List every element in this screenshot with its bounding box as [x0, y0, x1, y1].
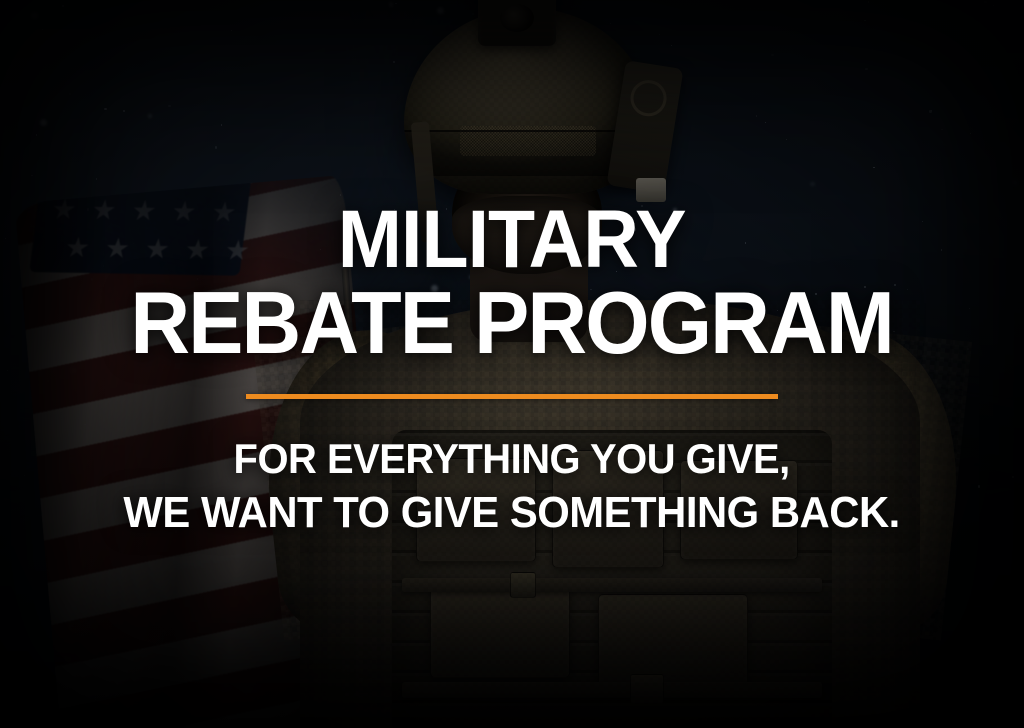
headline-line-2: REBATE PROGRAM	[131, 280, 894, 366]
headline-line-1: MILITARY	[338, 194, 686, 285]
military-rebate-banner: MILITARY REBATE PROGRAM FOR EVERYTHING Y…	[0, 0, 1024, 728]
orange-divider	[246, 394, 778, 399]
page-title: MILITARY REBATE PROGRAM	[131, 200, 894, 367]
page-subtitle: FOR EVERYTHING YOU GIVE, WE WANT TO GIVE…	[124, 432, 900, 541]
subheadline-line-1: FOR EVERYTHING YOU GIVE,	[234, 435, 790, 482]
subheadline-line-2: WE WANT TO GIVE SOMETHING BACK.	[124, 485, 900, 541]
banner-content: MILITARY REBATE PROGRAM FOR EVERYTHING Y…	[0, 0, 1024, 728]
